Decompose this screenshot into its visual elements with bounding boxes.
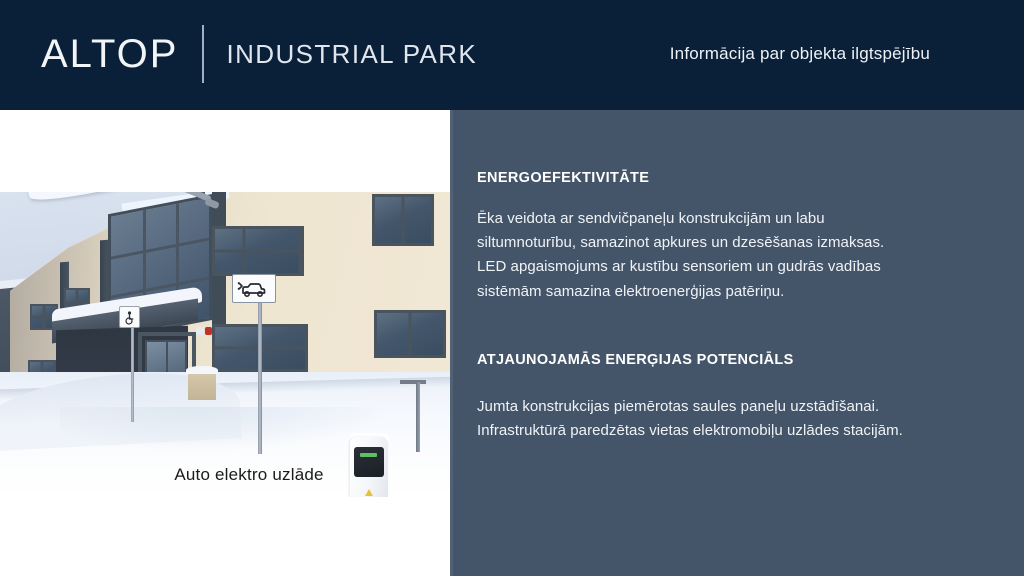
- photo-window-upper-center: [212, 226, 304, 276]
- building-photo: Auto elektro uzlāde: [0, 192, 450, 497]
- ev-parking-sign-icon: [232, 274, 276, 303]
- accessible-parking-sign-icon: [119, 306, 140, 328]
- photo-ev-sign-pole: [258, 302, 262, 454]
- section-heading-renewable-energy: ATJAUNOJAMĀS ENERĢIJAS POTENCIĀLS: [477, 352, 794, 368]
- ev-charger-display-led: [360, 453, 377, 457]
- photo-utility-box-snow: [186, 366, 218, 374]
- ev-charger-warning-triangle-icon: [365, 489, 373, 496]
- panel-left-edge: [450, 110, 453, 576]
- photo-rear-post-arm: [400, 380, 426, 384]
- section-heading-energy-efficiency: ENERGOEFEKTIVITĀTE: [477, 170, 649, 186]
- photo-rear-post: [416, 382, 420, 452]
- photo-utility-box: [188, 372, 216, 400]
- logo-primary-text: ALTOP: [41, 34, 178, 74]
- header-title: Informācija par objekta ilgtspējību: [670, 44, 930, 64]
- slide-root: ALTOP INDUSTRIAL PARK Informācija par ob…: [0, 0, 1024, 576]
- content-panel: ENERGOEFEKTIVITĀTE Ēka veidota ar sendvi…: [450, 110, 1024, 576]
- logo-divider: [202, 25, 204, 83]
- section-body-energy-efficiency: Ēka veidota ar sendvičpaneļu konstrukcij…: [477, 207, 884, 304]
- photo-siren-white: [196, 327, 204, 335]
- slide-header: ALTOP INDUSTRIAL PARK Informācija par ob…: [0, 0, 1024, 110]
- photo-entrance-sign-pole: [131, 322, 134, 422]
- photo-caption: Auto elektro uzlāde: [0, 465, 450, 485]
- photo-window-upper-right: [372, 194, 434, 246]
- photo-snow-drift-center: [60, 407, 390, 453]
- content-panel-inner: ENERGOEFEKTIVITĀTE Ēka veidota ar sendvi…: [477, 110, 997, 576]
- section-body-renewable-energy: Jumta konstrukcijas piemērotas saules pa…: [477, 395, 903, 443]
- logo-secondary-text: INDUSTRIAL PARK: [226, 41, 477, 67]
- brand-logo: ALTOP INDUSTRIAL PARK: [41, 26, 477, 82]
- photo-window-lower-right: [374, 310, 446, 358]
- photo-alarm-light: [205, 327, 212, 335]
